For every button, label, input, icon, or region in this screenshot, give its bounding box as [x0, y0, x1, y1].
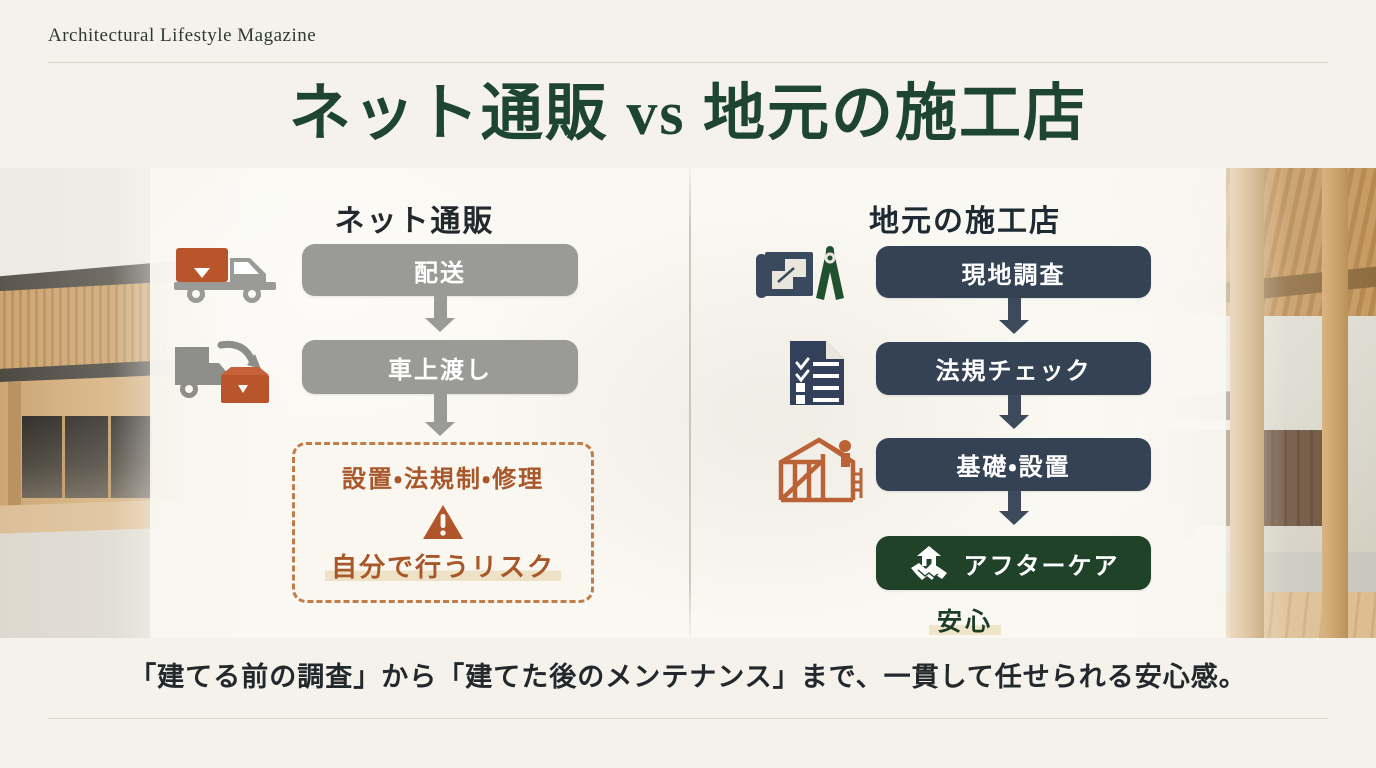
- slide-root: Architectural Lifestyle Magazine ネット通販 v…: [0, 0, 1376, 768]
- step-pill-label: アフターケア: [964, 546, 1120, 581]
- self-risk-box: 設置・法規制・修理 自分で行うリスク: [292, 442, 594, 603]
- step-pill-label: 法規チェック: [936, 351, 1092, 386]
- risk-conclusion-label: 自分で行うリスク: [295, 547, 591, 584]
- online-retail-column: ネット通販: [140, 168, 689, 638]
- online-retail-heading: ネット通販: [140, 196, 689, 240]
- curbside-dropoff-icon: [170, 336, 282, 412]
- footer-divider-rule: [48, 718, 1328, 719]
- delivery-truck-icon: [170, 240, 282, 306]
- house-framing-icon: [774, 434, 870, 508]
- magazine-kicker: Architectural Lifestyle Magazine: [48, 25, 316, 47]
- flow-arrow: [425, 296, 455, 332]
- footer-summary: 「建てる前の調査」から「建てた後のメンテナンス」まで、一貫して任せられる安心感。: [0, 655, 1376, 694]
- flow-arrow: [999, 395, 1029, 429]
- step-pill-foundation-install[interactable]: 基礎・設置: [876, 438, 1151, 491]
- step-pill-curbside[interactable]: 車上渡し: [302, 340, 578, 394]
- warning-triangle-icon: [295, 503, 591, 541]
- step-pill-label: 車上渡し: [388, 350, 492, 385]
- local-contractor-column: 地元の施工店: [700, 168, 1230, 638]
- flow-arrow: [999, 298, 1029, 334]
- local-contractor-heading: 地元の施工店: [700, 196, 1230, 240]
- step-pill-site-survey[interactable]: 現地調査: [876, 246, 1151, 298]
- step-pill-aftercare[interactable]: アフターケア: [876, 536, 1151, 590]
- outcome-label: 安心: [700, 602, 1230, 638]
- flow-arrow: [999, 491, 1029, 525]
- page-title: ネット通販 vs 地元の施工店: [0, 76, 1376, 152]
- step-pill-label: 基礎・設置: [956, 447, 1070, 482]
- flow-arrow: [425, 394, 455, 436]
- header-divider-rule: [48, 62, 1328, 63]
- step-pill-label: 配送: [414, 253, 466, 288]
- risk-tasks-label: 設置・法規制・修理: [295, 459, 591, 494]
- blueprint-compass-icon: [750, 240, 854, 310]
- step-pill-legal-check[interactable]: 法規チェック: [876, 342, 1151, 395]
- handshake-house-icon: [908, 544, 952, 582]
- column-divider: [689, 168, 691, 638]
- step-pill-delivery[interactable]: 配送: [302, 244, 578, 296]
- checklist-document-icon: [778, 336, 856, 410]
- step-pill-label: 現地調査: [962, 255, 1066, 290]
